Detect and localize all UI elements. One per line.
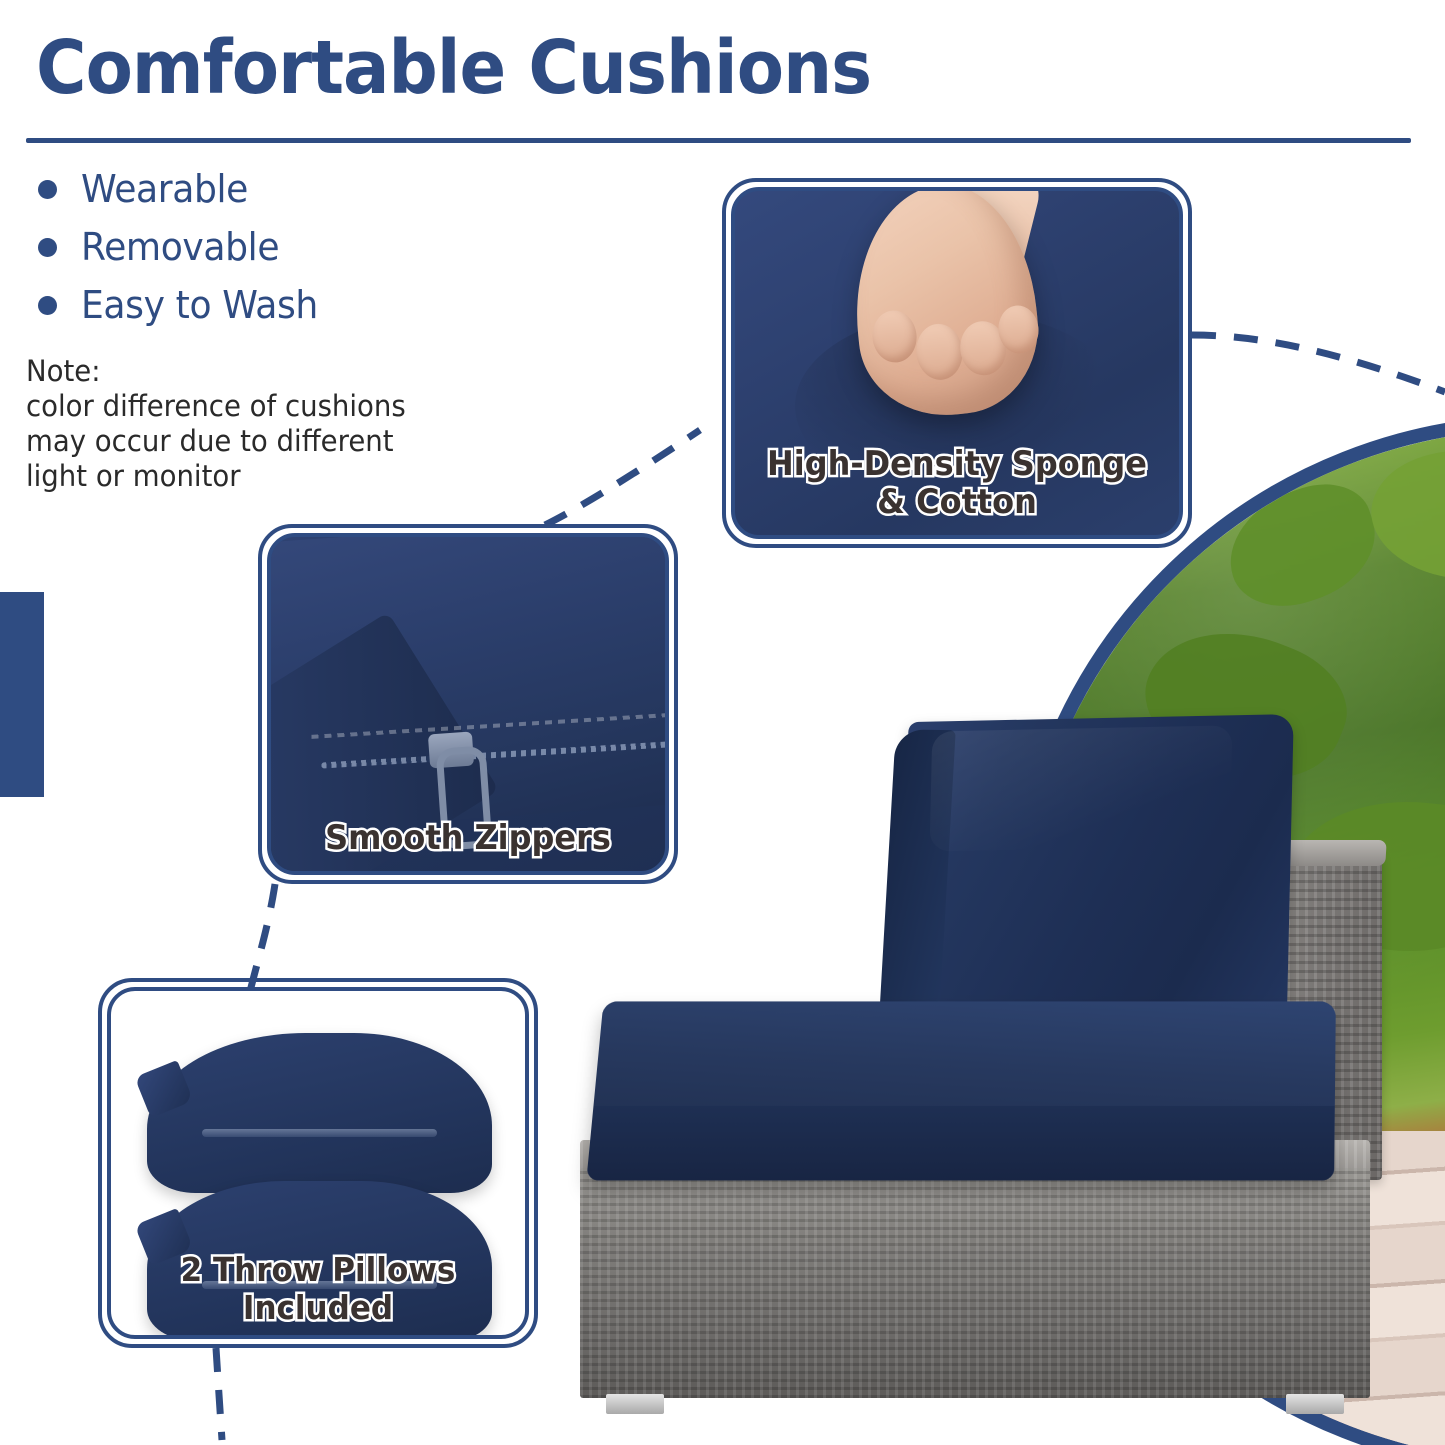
sofa-foot-left bbox=[606, 1394, 664, 1414]
callout-zipper-caption: Smooth Zippers bbox=[283, 819, 653, 857]
bullet-dot-icon bbox=[38, 180, 57, 199]
callout-pillows-caption: 2 Throw Pillows Included bbox=[123, 1251, 512, 1327]
list-item: Wearable bbox=[30, 160, 460, 218]
bullet-dot-icon bbox=[38, 296, 57, 315]
note-line: may occur due to different bbox=[26, 424, 425, 459]
title-divider bbox=[26, 138, 1411, 143]
back-cushion bbox=[901, 714, 1294, 1042]
sofa-foot-right bbox=[1286, 1394, 1344, 1414]
note-line: light or monitor bbox=[26, 459, 425, 494]
throw-pillow-upper bbox=[147, 1033, 492, 1193]
disclaimer-note: Note: color difference of cushions may o… bbox=[26, 354, 425, 494]
left-edge-accent-bar bbox=[0, 592, 44, 797]
callout-high-density-sponge: High-Density Sponge & Cotton bbox=[722, 178, 1192, 548]
feature-label: Wearable bbox=[81, 167, 248, 211]
caption-line: Smooth Zippers bbox=[283, 819, 653, 857]
note-line: color difference of cushions bbox=[26, 389, 425, 424]
callout-pillows-photo: 2 Throw Pillows Included bbox=[107, 987, 529, 1339]
feature-label: Removable bbox=[81, 225, 279, 269]
pillow-corner bbox=[134, 1060, 193, 1118]
callout-zipper-photo: Smooth Zippers bbox=[267, 533, 669, 875]
pillow-zipper bbox=[202, 1129, 437, 1137]
seat-cushion bbox=[586, 1001, 1336, 1180]
page-title: Comfortable Cushions bbox=[36, 28, 871, 108]
callout-smooth-zippers: Smooth Zippers bbox=[258, 524, 678, 884]
seat-cushion-edge bbox=[586, 1106, 1335, 1181]
caption-line: & Cotton bbox=[748, 483, 1165, 521]
callout-sponge-caption: High-Density Sponge & Cotton bbox=[748, 445, 1165, 521]
base-front-panel bbox=[580, 1168, 1370, 1398]
product-sofa bbox=[560, 700, 1370, 1440]
bullet-dot-icon bbox=[38, 238, 57, 257]
caption-line: 2 Throw Pillows Included bbox=[123, 1251, 512, 1327]
feature-label: Easy to Wash bbox=[81, 283, 318, 327]
infographic-canvas: Comfortable Cushions Wearable Removable … bbox=[0, 0, 1445, 1445]
list-item: Easy to Wash bbox=[30, 276, 460, 334]
callout-sponge-photo: High-Density Sponge & Cotton bbox=[731, 187, 1183, 539]
list-item: Removable bbox=[30, 218, 460, 276]
note-line: Note: bbox=[26, 354, 425, 389]
callout-throw-pillows: 2 Throw Pillows Included bbox=[98, 978, 538, 1348]
caption-line: High-Density Sponge bbox=[748, 445, 1165, 483]
feature-list: Wearable Removable Easy to Wash bbox=[30, 160, 460, 334]
seat-cushion-top bbox=[593, 1001, 1336, 1112]
